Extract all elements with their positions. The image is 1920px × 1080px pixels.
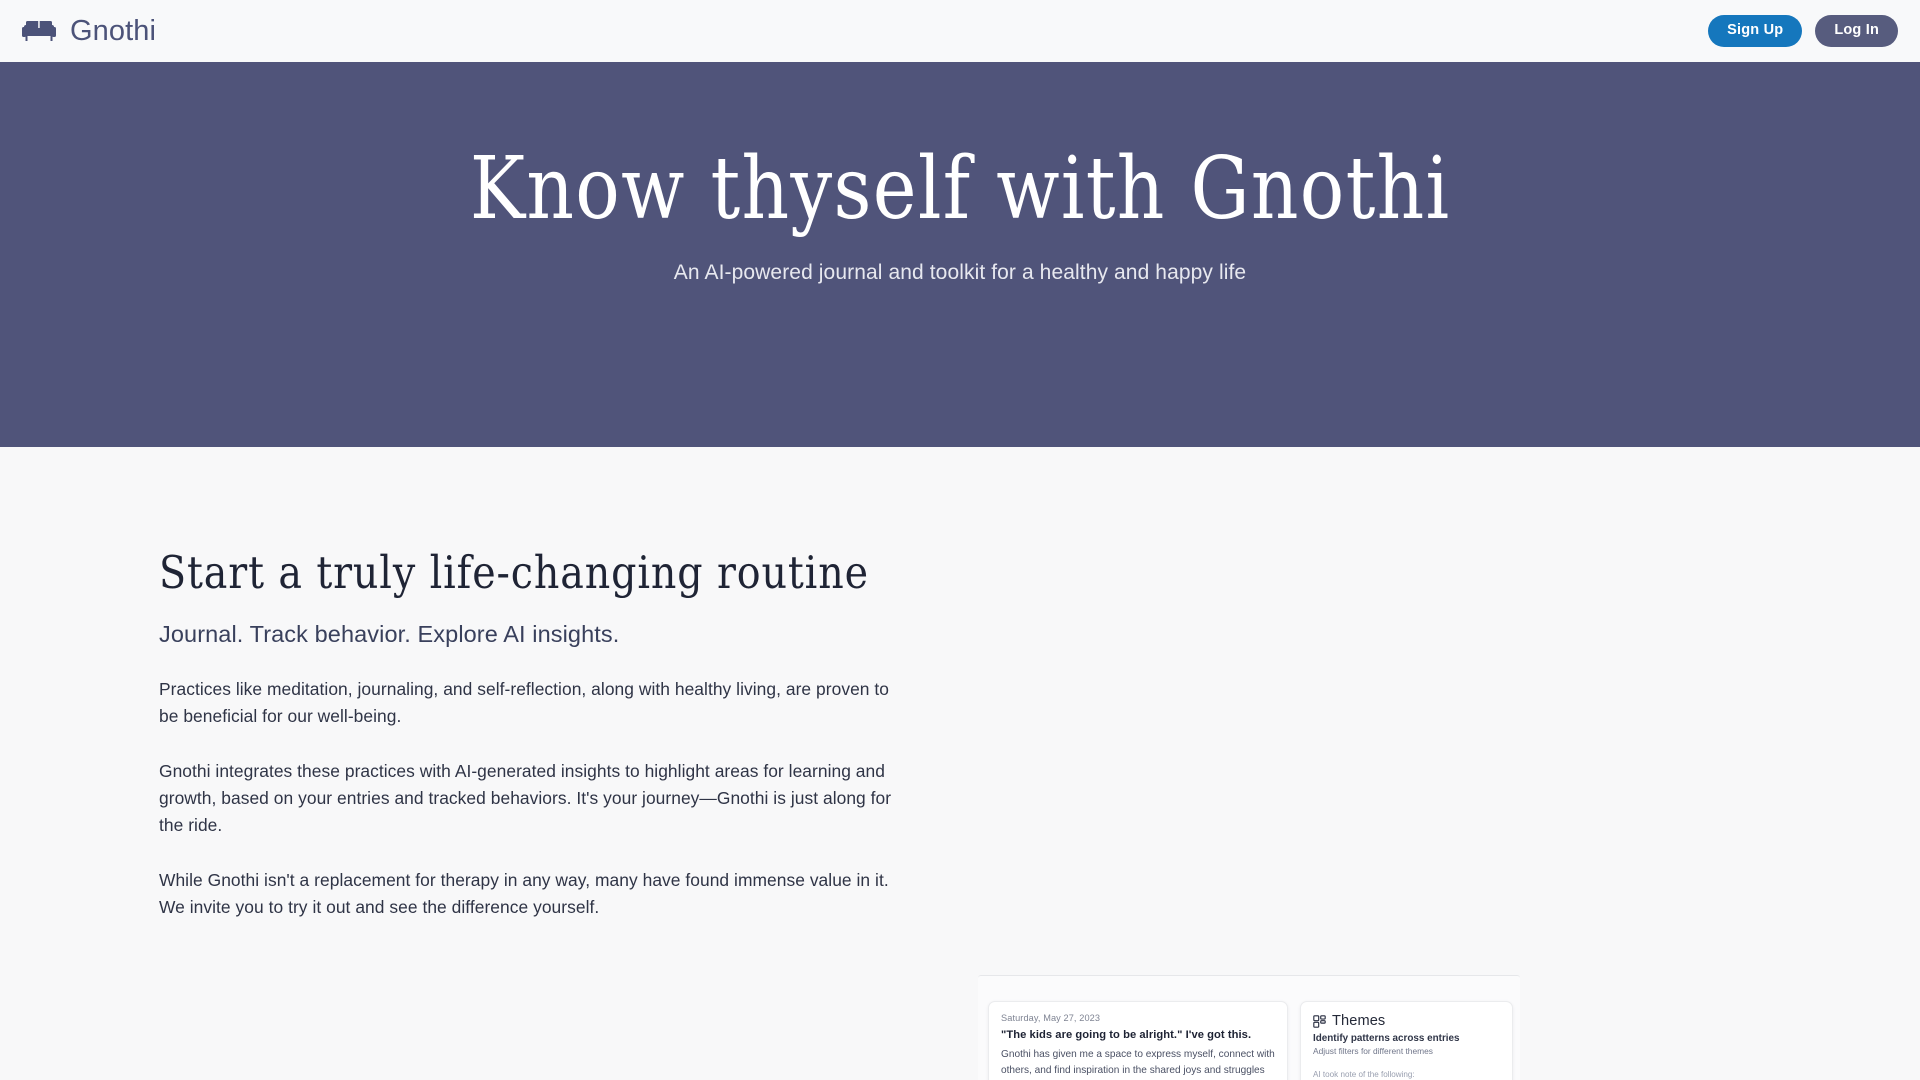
entry-date: Saturday, May 27, 2023 [1001,1013,1275,1023]
themes-card-subtitle: Identify patterns across entries [1313,1033,1500,1044]
journal-entry-card[interactable]: Saturday, May 27, 2023 "The kids are goi… [988,1001,1288,1080]
hero-banner: Know thyself with Gnothi An AI-powered j… [0,62,1920,447]
entry-body: Gnothi has given me a space to express m… [1001,1047,1275,1080]
feature-copy-column: Start a truly life-changing routine Jour… [0,447,900,1080]
themes-card-header: Themes [1313,1013,1500,1029]
main-section: Start a truly life-changing routine Jour… [0,447,1920,1080]
section-title: Start a truly life-changing routine [159,547,811,599]
insights-column: Themes Identify patterns across entries … [1300,1001,1513,1080]
brand-logo[interactable]: Gnothi [22,15,156,48]
sign-up-button[interactable]: Sign Up [1708,15,1802,48]
preview-columns: Saturday, May 27, 2023 "The kids are goi… [978,976,1520,1080]
brand-name: Gnothi [70,15,156,48]
app-preview: Saturday, May 27, 2023 "The kids are goi… [978,975,1520,1080]
preview-panel: Saturday, May 27, 2023 "The kids are goi… [978,975,1520,1080]
section-paragraph-3: While Gnothi isn't a replacement for the… [159,867,900,921]
themes-card-title: Themes [1332,1013,1385,1029]
hero-title: Know thyself with Gnothi [470,144,1451,234]
log-in-button[interactable]: Log In [1815,15,1898,48]
themes-card: Themes Identify patterns across entries … [1300,1001,1513,1080]
section-paragraph-2: Gnothi integrates these practices with A… [159,758,900,839]
top-navbar: Gnothi Sign Up Log In [0,0,1920,62]
section-subtitle: Journal. Track behavior. Explore AI insi… [159,621,900,648]
themes-card-hint: Adjust filters for different themes [1313,1046,1500,1056]
hero-subtitle: An AI-powered journal and toolkit for a … [674,261,1246,285]
couch-icon [22,18,56,44]
journal-entries-column: Saturday, May 27, 2023 "The kids are goi… [988,1001,1288,1080]
grid-layout-icon [1313,1015,1326,1028]
entry-title: "The kids are going to be alright." I've… [1001,1029,1275,1041]
section-paragraph-1: Practices like meditation, journaling, a… [159,676,900,730]
themes-card-note: AI took note of the following: [1313,1070,1500,1079]
nav-actions: Sign Up Log In [1708,15,1898,48]
